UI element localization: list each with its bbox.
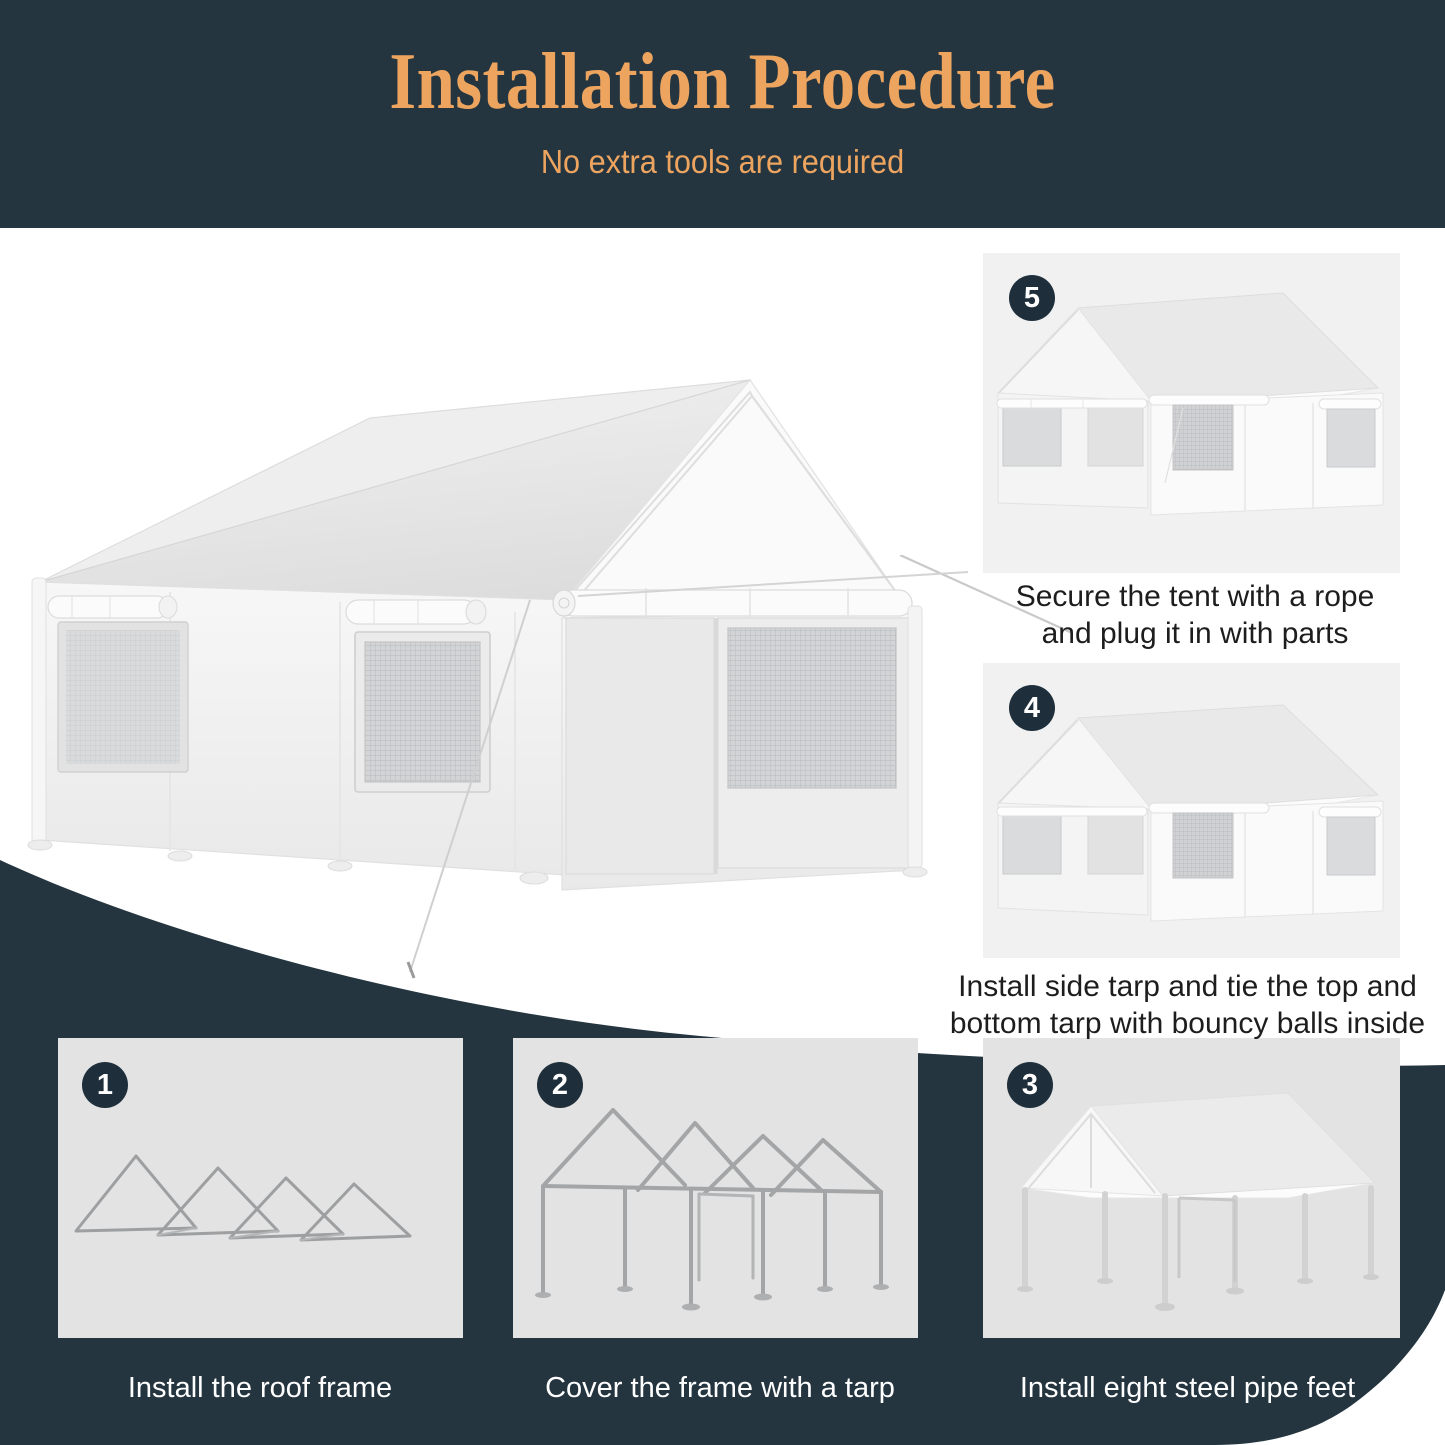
step-caption-2: Cover the frame with a tarp bbox=[500, 1370, 940, 1406]
step-badge-3: 3 bbox=[1007, 1062, 1053, 1108]
step-caption-3: Install eight steel pipe feet bbox=[960, 1370, 1415, 1406]
step-badge-2: 2 bbox=[537, 1062, 583, 1108]
step-badge-5: 5 bbox=[1009, 275, 1055, 321]
step-panel-5: 5 bbox=[983, 253, 1400, 573]
hero-tent-illustration bbox=[10, 300, 970, 980]
step-badge-4: 4 bbox=[1009, 685, 1055, 731]
step-panel-2: 2 bbox=[513, 1038, 918, 1338]
installation-procedure-page: Installation Procedure No extra tools ar… bbox=[0, 0, 1445, 1445]
page-title: Installation Procedure bbox=[101, 38, 1344, 126]
step-panel-4: 4 bbox=[983, 663, 1400, 958]
step-caption-4: Install side tarp and tie the top and bo… bbox=[935, 968, 1440, 1042]
step-caption-5: Secure the tent with a rope and plug it … bbox=[960, 578, 1430, 652]
step-panel-1: 1 bbox=[58, 1038, 463, 1338]
step-panel-3: 3 bbox=[983, 1038, 1400, 1338]
header-band: Installation Procedure No extra tools ar… bbox=[0, 0, 1445, 228]
step-caption-1: Install the roof frame bbox=[40, 1370, 480, 1406]
page-subtitle: No extra tools are required bbox=[51, 142, 1395, 182]
step-badge-1: 1 bbox=[82, 1062, 128, 1108]
